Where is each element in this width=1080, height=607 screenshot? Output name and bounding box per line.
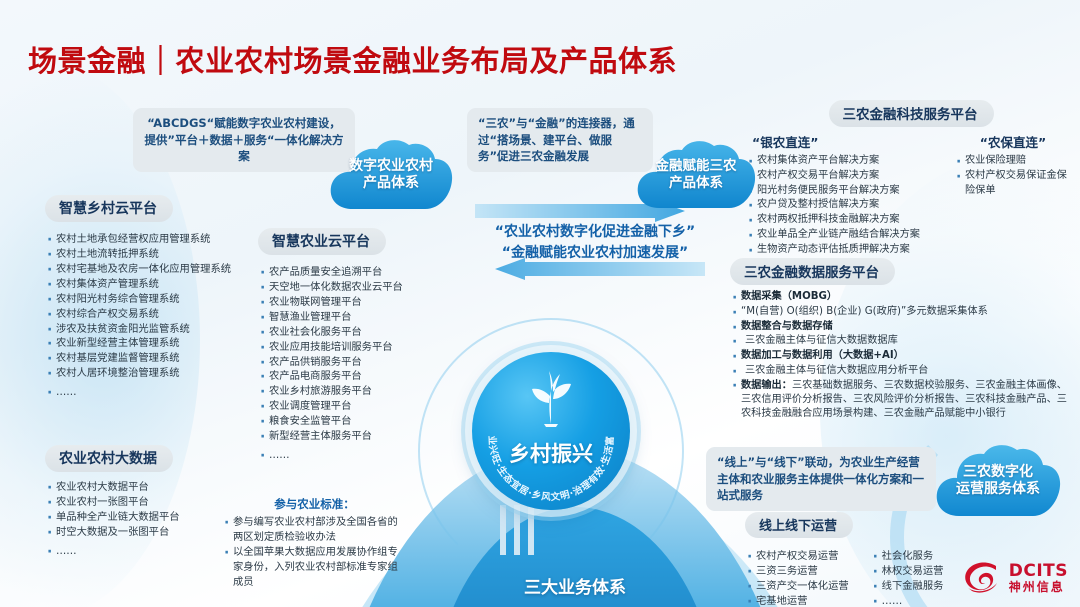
panel-standards-list: 参与编写农业农村部涉及全国各省的两区划定质检验收办法 以全国苹果大数据应用发展协… [222, 515, 407, 590]
callout-online-offline-text: “线上”与“线下”联动，为农业生产经营主体和农业服务主体提供一体化方案和一站式服… [717, 455, 924, 502]
list-item: 生物资产动态评估抵质押解决方案 [746, 243, 946, 258]
list-item: 涉农及扶贫资金阳光监管系统 [45, 322, 255, 337]
list-item: 农村土地承包经营权应用管理系统 [45, 232, 255, 247]
datasvc-sub-2: 三农金融主体与征信大数据应用分析平台 [745, 365, 928, 376]
datasvc-sub-2-row: 三农金融主体与征信大数据应用分析平台 [730, 364, 1070, 379]
cloud-finance-line1: 金融赋能三农 [656, 158, 737, 175]
panel-agri-bigdata-list: 农业农村大数据平台 农业农村一张图平台 单品种全产业链大数据平台 时空大数据及一… [45, 480, 245, 559]
hub-arc-text: 产业兴旺·生态宜居·乡风文明·治理有效·生活富裕 [472, 352, 630, 510]
panel-smart-village-title: 智慧乡村云平台 [45, 195, 173, 222]
list-item: 农村阳光村务综合管理系统 [45, 292, 255, 307]
center-slogan: “农业农村数字化促进金融下乡” “金融赋能农业农村加速发展” [450, 222, 740, 264]
operations-left-list: 农村产权交易运营 三资三务运营 三资产交一体化运营 宅基地运营 [745, 549, 849, 607]
page-title: 场景金融｜农业农村场景金融业务布局及产品体系 [28, 38, 677, 80]
cloud-ops-line2: 运营服务体系 [956, 481, 1040, 499]
datasvc-sub-0-row: “M(自营) O(组织) B(企业) G(政府)”多元数据采集体系 [730, 305, 1070, 320]
list-item: 单品种全产业链大数据平台 [45, 510, 245, 525]
list-item: 农业农村大数据平台 [45, 480, 245, 495]
svg-text:产业兴旺·生态宜居·乡风文明·治理有效·生活富裕: 产业兴旺·生态宜居·乡风文明·治理有效·生活富裕 [472, 352, 616, 503]
list-item: 以全国苹果大数据应用发展协作组专家身份，入列农业农村部标准专家组成员 [222, 545, 407, 590]
fintech-left-heading: “银农直连” [752, 132, 946, 151]
logo-en: DCITS [1009, 563, 1068, 581]
list-item: 阳光村务便民服务平台解决方案 [746, 184, 946, 199]
datasvc-sub-1-row: 三农金融主体与征信大数据数据库 [730, 334, 1070, 349]
list-item: 数据整合与数据存储 [730, 320, 1070, 335]
list-item: 农村人居环境整治管理系统 [45, 366, 255, 381]
list-item: 农业保险理赔 [954, 154, 1072, 169]
list-item: 农业社会化服务平台 [258, 325, 458, 340]
panel-smart-village: 智慧乡村云平台 农村土地承包经营权应用管理系统 农村土地流转抵押系统 农村宅基地… [45, 195, 255, 400]
list-item: 参与编写农业农村部涉及全国各省的两区划定质检验收办法 [222, 515, 407, 545]
list-item: 三资三务运营 [745, 564, 849, 579]
list-item: 农村产权交易保证金保险保单 [954, 169, 1072, 199]
list-item: 农业应用技能培训服务平台 [258, 340, 458, 355]
datasvc-lead-0: 数据采集（MOBG） [741, 291, 837, 302]
list-item: 农村综合产权交易系统 [45, 307, 255, 322]
cloud-finance-line2: 产品体系 [656, 175, 737, 192]
cloud-ops-line1: 三农数字化 [956, 464, 1040, 482]
list-item: 农产品供销服务平台 [258, 355, 458, 370]
datasvc-sub-0: “M(自营) O(组织) B(企业) G(政府)”多元数据采集体系 [741, 306, 988, 317]
callout-connector: “三农”与“金融”的连接器，通过“搭场景、建平台、做服务”促进三农金融发展 [467, 108, 653, 172]
fintech-right-heading: “农保直连” [954, 132, 1072, 151]
cloud-digital-agri-line2: 产品体系 [349, 175, 433, 193]
list-item: 天空地一体化数据农业云平台 [258, 280, 458, 295]
panel-smart-village-list: 农村土地承包经营权应用管理系统 农村土地流转抵押系统 农村宅基地及农房一体化应用… [45, 232, 255, 400]
list-item: …… [871, 594, 944, 607]
panel-fintech-title: 三农金融科技服务平台 [829, 100, 994, 127]
list-item: 农村集体资产管理系统 [45, 277, 255, 292]
center-slogan-line1: “农业农村数字化促进金融下乡” [450, 222, 740, 243]
logo-cn: 神州信息 [1009, 581, 1068, 594]
list-item: 农产品质量安全追溯平台 [258, 265, 458, 280]
cloud-digital-operations[interactable]: 三农数字化 运营服务体系 [933, 442, 1063, 520]
panel-data-service-title: 三农金融数据服务平台 [730, 258, 895, 285]
list-item: 三资产交一体化运营 [745, 579, 849, 594]
list-item: …… [45, 385, 255, 400]
datasvc-lead-2: 数据加工与数据利用（大数据+AI） [741, 350, 904, 361]
panel-smart-agri-title: 智慧农业云平台 [258, 228, 386, 255]
callout-connector-text: “三农”与“金融”的连接器，通过“搭场景、建平台、做服务”促进三农金融发展 [478, 116, 635, 163]
list-item: 时空大数据及一张图平台 [45, 525, 245, 540]
list-item: 农业单品全产业链产融结合解决方案 [746, 228, 946, 243]
dcits-mark-icon [963, 561, 1003, 595]
list-item: 农产品电商服务平台 [258, 369, 458, 384]
list-item: 农业新型经营主体管理系统 [45, 336, 255, 351]
cloud-digital-agriculture[interactable]: 数字农业农村 产品体系 [327, 137, 455, 213]
list-item: 数据加工与数据利用（大数据+AI） [730, 349, 1070, 364]
cloud-finance-sannong[interactable]: 金融赋能三农 产品体系 [634, 138, 758, 212]
list-item: 农户贷及整村授信解决方案 [746, 198, 946, 213]
connector-bar-1 [500, 505, 506, 555]
list-item: 智慧渔业管理平台 [258, 310, 458, 325]
list-item: 农业物联网管理平台 [258, 295, 458, 310]
hub-arc-label: 产业兴旺·生态宜居·乡风文明·治理有效·生活富裕 [472, 352, 616, 503]
callout-abcdgs-text: “ABCDGS“赋能数字农业农村建设，提供”平台＋数据＋服务“一体化解决方案 [144, 116, 343, 163]
list-item: 农村产权交易平台解决方案 [746, 169, 946, 184]
panel-data-service-list: 数据采集（MOBG） “M(自营) O(组织) B(企业) G(政府)”多元数据… [730, 290, 1070, 422]
list-item: 数据采集（MOBG） [730, 290, 1070, 305]
panel-agri-bigdata: 农业农村大数据 农业农村大数据平台 农业农村一张图平台 单品种全产业链大数据平台… [45, 445, 245, 559]
list-item: 线下金融服务 [871, 579, 944, 594]
callout-online-offline: “线上”与“线下”联动，为农业生产经营主体和农业服务主体提供一体化方案和一站式服… [706, 447, 936, 511]
list-item: 农村集体资产平台解决方案 [746, 154, 946, 169]
list-item: 林权交易运营 [871, 564, 944, 579]
panel-standards: 参与农业标准： 参与编写农业农村部涉及全国各省的两区划定质检验收办法 以全国苹果… [222, 496, 407, 590]
datasvc-lead-1: 数据整合与数据存储 [741, 321, 833, 332]
panel-standards-title: 参与农业标准： [222, 496, 407, 512]
connector-bar-3 [528, 505, 534, 555]
band-three-systems: 三大业务体系 [430, 563, 720, 607]
slide-canvas: 场景金融｜农业农村场景金融业务布局及产品体系 “ABCDGS“赋能数字农业农村建… [0, 0, 1080, 607]
datasvc-sub-1: 三农金融主体与征信大数据数据库 [745, 335, 898, 346]
brand-logo: DCITS 神州信息 [963, 561, 1068, 595]
center-slogan-line2: “金融赋能农业农村加速发展” [450, 243, 740, 264]
list-item: 数据输出：三农基础数据服务、三农数据校验服务、三农金融主体画像、三农信用评价分析… [730, 379, 1070, 422]
list-item: 农业农村一张图平台 [45, 495, 245, 510]
panel-data-service: 三农金融数据服务平台 数据采集（MOBG） “M(自营) O(组织) B(企业)… [730, 258, 1070, 422]
list-item: 农村基层党建监督管理系统 [45, 351, 255, 366]
hub-rural-revitalization[interactable]: 乡村振兴 产业兴旺·生态宜居·乡风文明·治理有效·生活富裕 [472, 352, 630, 510]
list-item: …… [45, 544, 245, 559]
list-item: 农村土地流转抵押系统 [45, 247, 255, 262]
panel-agri-bigdata-title: 农业农村大数据 [45, 445, 173, 472]
cloud-digital-agri-line1: 数字农业农村 [349, 158, 433, 176]
list-item: 农村宅基地及农房一体化应用管理系统 [45, 262, 255, 277]
list-item: 宅基地运营 [745, 594, 849, 607]
callout-abcdgs: “ABCDGS“赋能数字农业农村建设，提供”平台＋数据＋服务“一体化解决方案 [133, 108, 355, 172]
panel-operations-title: 线上线下运营 [745, 512, 853, 538]
datasvc-lead-3: 数据输出： [741, 380, 792, 391]
list-item: 农村产权交易运营 [745, 549, 849, 564]
band-label: 三大业务体系 [524, 573, 626, 598]
connector-bar-2 [514, 505, 520, 555]
operations-right-list: 社会化服务 林权交易运营 线下金融服务 …… [871, 549, 944, 607]
list-item: 农村两权抵押科技金融解决方案 [746, 213, 946, 228]
panel-fintech-service: 三农金融科技服务平台 “银农直连” 农村集体资产平台解决方案 农村产权交易平台解… [746, 100, 1076, 275]
fintech-right-list: 农业保险理赔 农村产权交易保证金保险保单 [954, 154, 1072, 198]
list-item: 社会化服务 [871, 549, 944, 564]
